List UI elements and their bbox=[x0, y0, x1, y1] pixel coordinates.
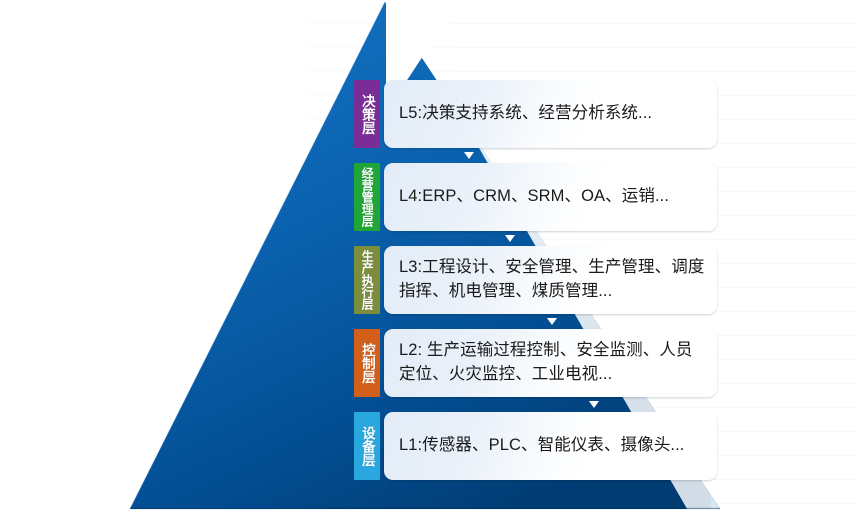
layer-row-l2[interactable]: 控制层 L2: 生产运输过程控制、安全监测、人员定位、火灾监控、工业电视... bbox=[354, 329, 717, 397]
layer-card-l3[interactable]: L3:工程设计、安全管理、生产管理、调度指挥、机电管理、煤质管理... bbox=[384, 246, 717, 314]
layer-tab-l4[interactable]: 经营管理层 bbox=[354, 163, 380, 231]
layer-tab-label-l3: 生产执行层 bbox=[361, 250, 373, 310]
diagram-canvas: 决策层 L5:决策支持系统、经营分析系统... 经营管理层 L4:ERP、CRM… bbox=[0, 0, 856, 514]
layer-row-l5[interactable]: 决策层 L5:决策支持系统、经营分析系统... bbox=[354, 80, 717, 148]
layer-tab-label-l4: 经营管理层 bbox=[361, 167, 373, 227]
layer-tab-l5[interactable]: 决策层 bbox=[354, 80, 380, 148]
layer-row-l1[interactable]: 设备层 L1:传感器、PLC、智能仪表、摄像头... bbox=[354, 412, 717, 480]
pyramid-right-edge-line bbox=[717, 0, 721, 514]
layer-card-text-l3: L3:工程设计、安全管理、生产管理、调度指挥、机电管理、煤质管理... bbox=[399, 256, 705, 304]
layer-card-l1[interactable]: L1:传感器、PLC、智能仪表、摄像头... bbox=[384, 412, 717, 480]
layer-tab-l2[interactable]: 控制层 bbox=[354, 329, 380, 397]
layer-row-l4[interactable]: 经营管理层 L4:ERP、CRM、SRM、OA、运销... bbox=[354, 163, 717, 231]
row-divider-arrow-l3 bbox=[547, 318, 557, 325]
layer-tab-l3[interactable]: 生产执行层 bbox=[354, 246, 380, 314]
layer-tab-label-l2: 控制层 bbox=[360, 343, 374, 384]
layer-card-l4[interactable]: L4:ERP、CRM、SRM、OA、运销... bbox=[384, 163, 717, 231]
row-divider-arrow-l5 bbox=[464, 152, 474, 159]
layer-tab-label-l5: 决策层 bbox=[360, 94, 374, 135]
layer-card-l2[interactable]: L2: 生产运输过程控制、安全监测、人员定位、火灾监控、工业电视... bbox=[384, 329, 717, 397]
row-divider-arrow-l2 bbox=[589, 401, 599, 408]
layer-card-text-l4: L4:ERP、CRM、SRM、OA、运销... bbox=[399, 185, 669, 209]
layer-tab-label-l1: 设备层 bbox=[360, 426, 374, 467]
layer-card-text-l5: L5:决策支持系统、经营分析系统... bbox=[399, 102, 652, 126]
layer-row-l3[interactable]: 生产执行层 L3:工程设计、安全管理、生产管理、调度指挥、机电管理、煤质管理..… bbox=[354, 246, 717, 314]
layer-card-l5[interactable]: L5:决策支持系统、经营分析系统... bbox=[384, 80, 717, 148]
layer-card-text-l1: L1:传感器、PLC、智能仪表、摄像头... bbox=[399, 434, 685, 458]
layer-tab-l1[interactable]: 设备层 bbox=[354, 412, 380, 480]
layer-card-text-l2: L2: 生产运输过程控制、安全监测、人员定位、火灾监控、工业电视... bbox=[399, 339, 705, 387]
row-divider-arrow-l4 bbox=[505, 235, 515, 242]
